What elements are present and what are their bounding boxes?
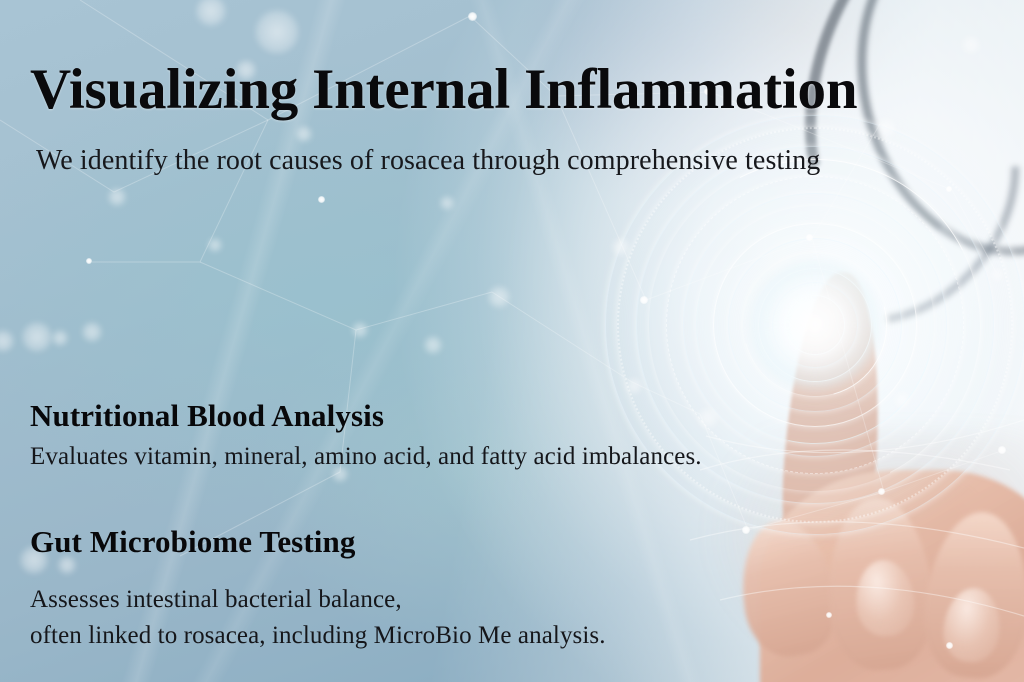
index-finger	[775, 269, 890, 605]
page-title: Visualizing Internal Inflammation	[30, 61, 857, 118]
finger-ring	[824, 495, 937, 672]
hand-shadow	[700, 430, 1024, 682]
finger-middle	[732, 514, 844, 663]
section-body-nutritional-blood-analysis: Evaluates vitamin, mineral, amino acid, …	[30, 443, 702, 471]
section-body-gut-microbiome-testing-line2: often linked to rosacea, including Micro…	[30, 622, 606, 650]
page-subtitle: We identify the root causes of rosacea t…	[36, 145, 820, 177]
promotional-banner: Visualizing Internal Inflammation We ide…	[0, 0, 1024, 682]
hand-mass	[760, 470, 1024, 682]
finger-little	[919, 508, 1024, 682]
section-heading-nutritional-blood-analysis: Nutritional Blood Analysis	[30, 398, 384, 434]
section-heading-gut-microbiome-testing: Gut Microbiome Testing	[30, 524, 355, 560]
section-body-gut-microbiome-testing-line1: Assesses intestinal bacterial balance,	[30, 586, 402, 614]
fingernail	[853, 558, 916, 638]
fingernail	[940, 585, 1003, 664]
